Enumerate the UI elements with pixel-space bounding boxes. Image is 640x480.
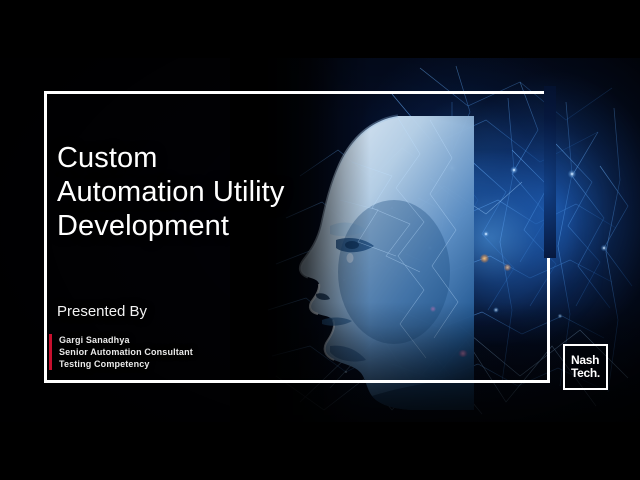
letterbox-bottom [0, 422, 640, 480]
presenter-name: Gargi Sanadhya [59, 334, 193, 346]
letterbox-top [0, 0, 640, 58]
pink-node-glow [458, 350, 468, 357]
neural-glow-core [400, 153, 600, 343]
title-line-2: Automation Utility [57, 175, 317, 209]
presenter-credits: Gargi Sanadhya Senior Automation Consult… [49, 334, 193, 370]
title-line-3: Development [57, 209, 317, 243]
nashtech-logo: Nash Tech. [563, 344, 608, 390]
slide-title: Custom Automation Utility Development [57, 141, 317, 243]
presentation-slide: Custom Automation Utility Development Pr… [0, 58, 640, 422]
pink-node-glow-secondary [430, 306, 436, 312]
presenter-team: Testing Competency [59, 358, 193, 370]
presenter-role: Senior Automation Consultant [59, 346, 193, 358]
video-frame: Custom Automation Utility Development Pr… [0, 0, 640, 480]
frame-right-border-occlusion [544, 86, 556, 258]
warm-node-glow [480, 254, 489, 263]
title-line-1: Custom [57, 141, 317, 175]
credit-lines: Gargi Sanadhya Senior Automation Consult… [52, 334, 193, 370]
warm-node-glow-secondary [504, 264, 511, 271]
presented-by-label: Presented By [57, 303, 147, 321]
logo-line-tech: Tech. [571, 367, 606, 380]
